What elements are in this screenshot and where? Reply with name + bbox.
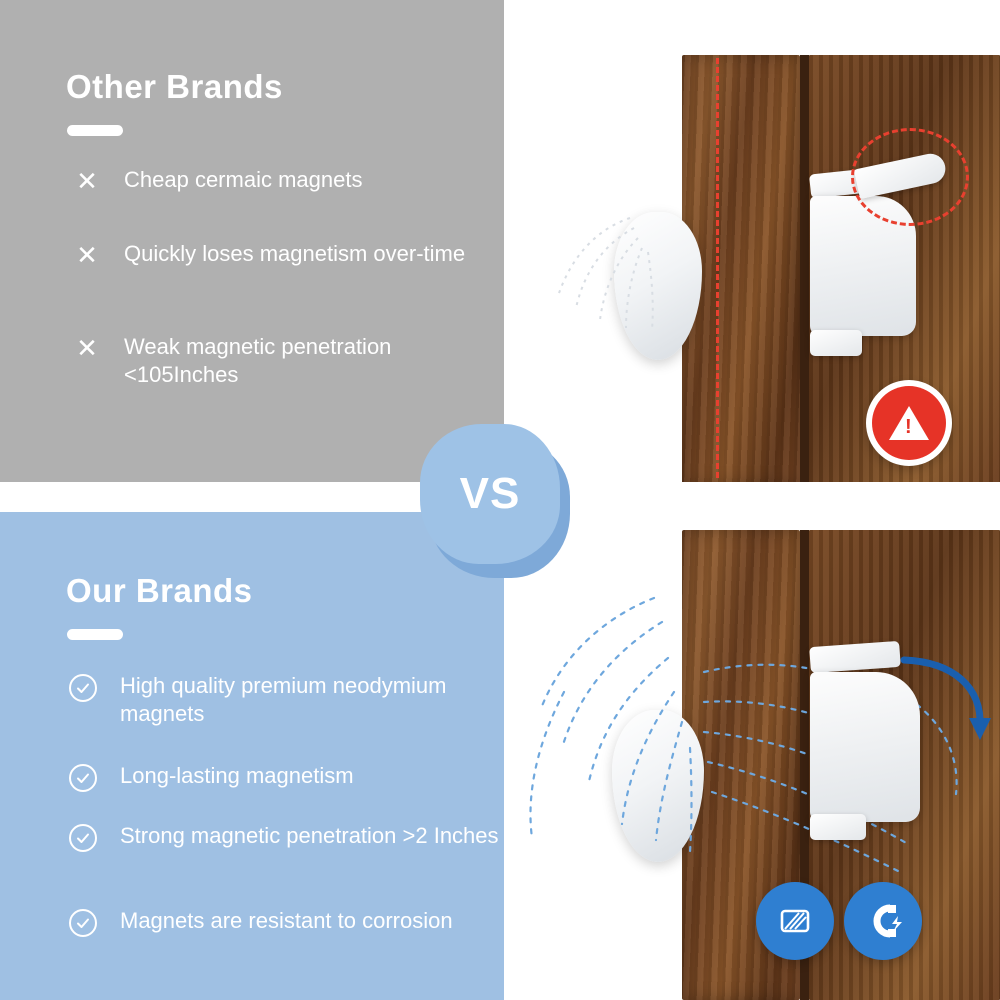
misalignment-line [716,58,719,478]
our-feature-4-label: Magnets are resistant to corrosion [120,907,453,935]
our-feature-1: High quality premium neodymium magnets [68,672,500,728]
check-icon [68,822,98,852]
our-feature-2-label: Long-lasting magnetism [120,762,354,790]
material-icon [775,901,815,941]
vs-badge: VS [420,424,560,564]
our-feature-2: Long-lasting magnetism [68,762,354,792]
our-brands-title: Our Brands [66,572,253,610]
comparison-infographic: Other Brands ✕ Cheap cermaic magnets ✕ Q… [0,0,1000,1000]
other-brands-title: Other Brands [66,68,283,106]
our-feature-4: Magnets are resistant to corrosion [68,907,453,937]
motion-arrow-icon [896,652,992,748]
other-feature-1: ✕ Cheap cermaic magnets [72,166,362,194]
latch-foot [810,330,862,356]
latch-foot [810,814,866,840]
other-feature-3-label: Weak magnetic penetration <105Inches [124,333,504,389]
check-icon [68,672,98,702]
our-feature-1-label: High quality premium neodymium magnets [120,672,500,728]
magnet-icon [862,900,904,942]
problem-highlight [851,128,969,226]
other-brands-photo [504,0,1000,482]
material-badge [756,882,834,960]
warning-badge [866,380,952,466]
check-icon [68,907,98,937]
magnet-badge [844,882,922,960]
title-underline [67,629,123,640]
other-feature-2: ✕ Quickly loses magnetism over-time [72,240,465,268]
weak-field-lines [534,200,714,370]
title-underline [67,125,123,136]
our-brands-photo [504,512,1000,1000]
warning-triangle-icon [889,406,929,440]
strong-field-lines-left [504,572,714,952]
x-icon: ✕ [72,166,102,194]
cabinet-gap [800,55,809,482]
other-feature-3: ✕ Weak magnetic penetration <105Inches [72,333,504,389]
our-feature-3: Strong magnetic penetration >2 Inches [68,822,499,852]
other-brands-panel: Other Brands ✕ Cheap cermaic magnets ✕ Q… [0,0,504,482]
x-icon: ✕ [72,333,102,361]
other-feature-2-label: Quickly loses magnetism over-time [124,240,465,268]
vs-label: VS [460,469,521,519]
our-brands-panel: Our Brands High quality premium neodymiu… [0,512,504,1000]
check-icon [68,762,98,792]
x-icon: ✕ [72,240,102,268]
other-feature-1-label: Cheap cermaic magnets [124,166,362,194]
our-feature-3-label: Strong magnetic penetration >2 Inches [120,822,499,850]
